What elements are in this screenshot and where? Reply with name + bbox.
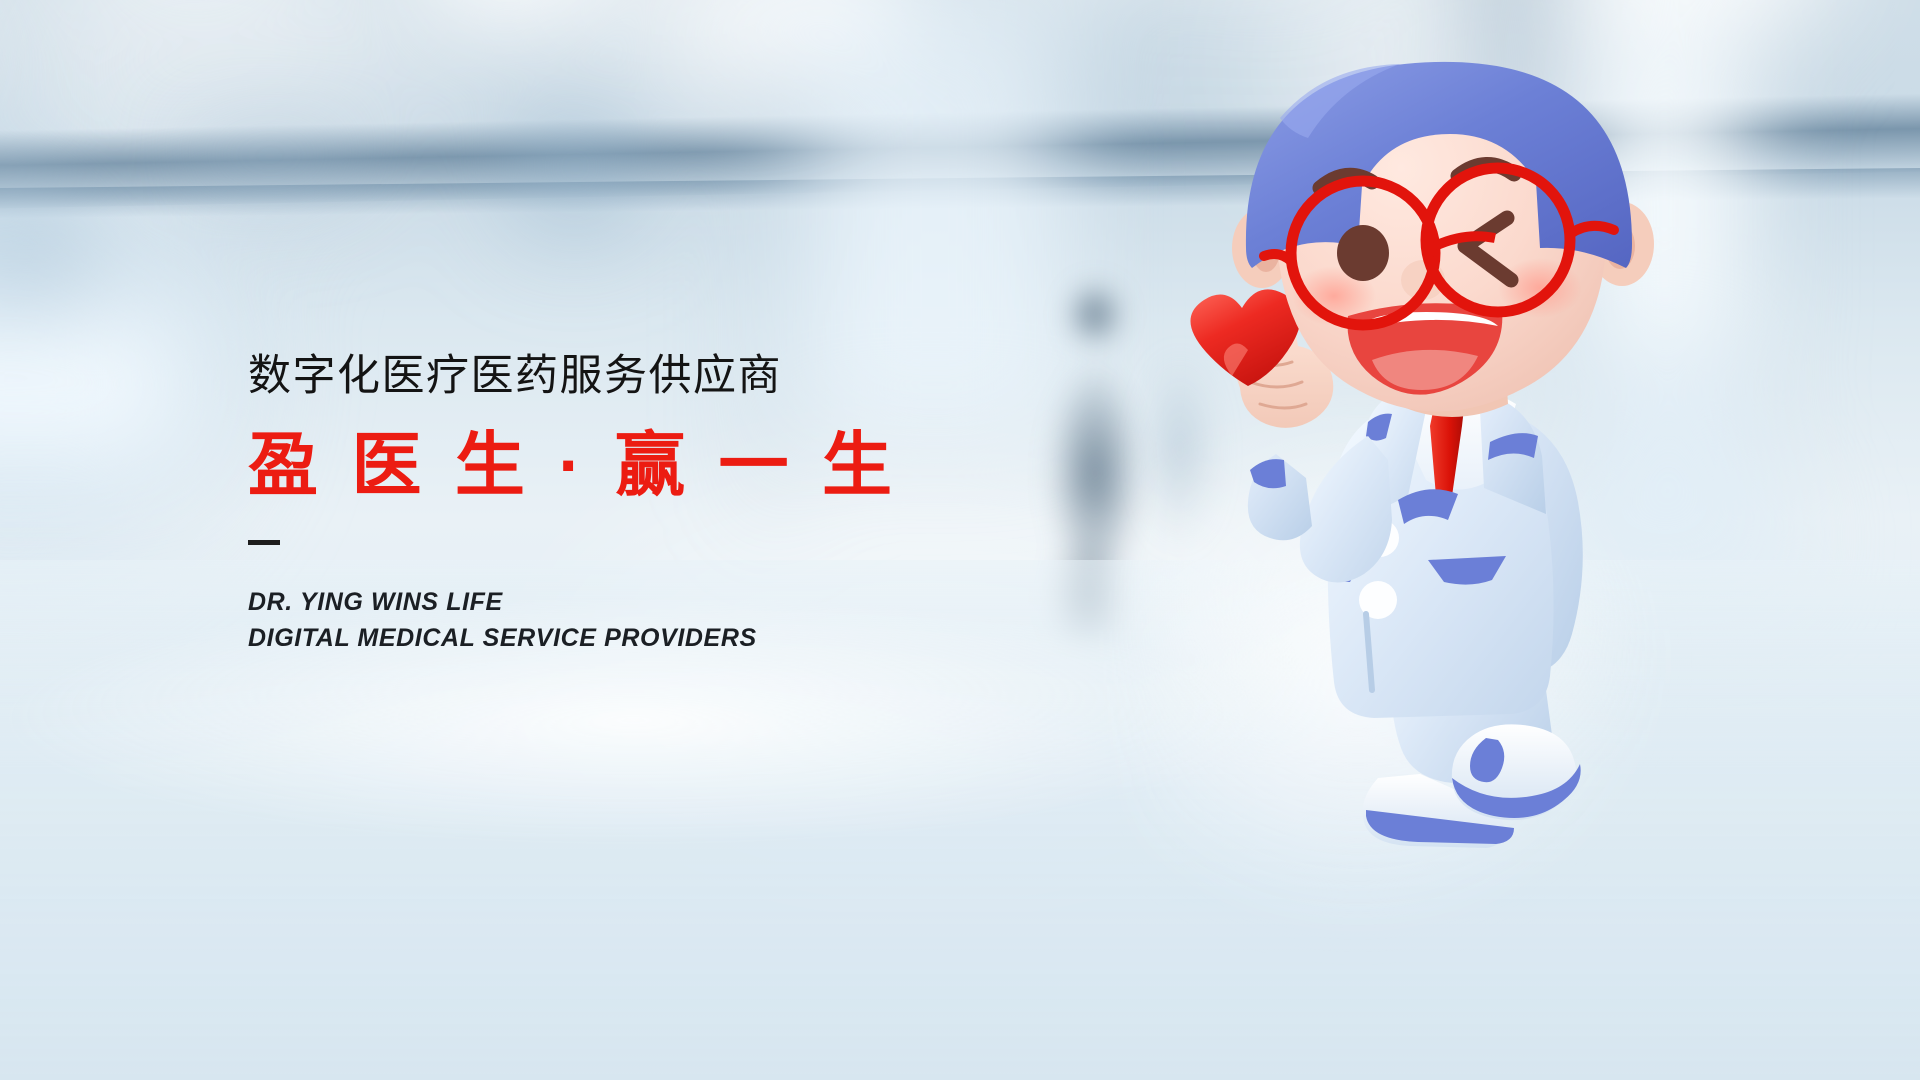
- eye-open-left: [1337, 225, 1389, 281]
- doctor-character-illustration: [1180, 48, 1680, 858]
- hero-divider-rule: [248, 540, 280, 545]
- hero-banner: 数字化医疗医药服务供应商 盈 医 生 · 赢 一 生 DR. YING WINS…: [0, 0, 1920, 1080]
- hero-title: 盈 医 生 · 赢 一 生: [248, 424, 1028, 507]
- hero-subtitle: DR. YING WINS LIFE DIGITAL MEDICAL SERVI…: [248, 585, 1028, 656]
- hero-copy: 数字化医疗医药服务供应商 盈 医 生 · 赢 一 生 DR. YING WINS…: [248, 352, 1028, 656]
- hero-subtitle-line-2: DIGITAL MEDICAL SERVICE PROVIDERS: [248, 621, 1028, 657]
- hero-headline: 数字化医疗医药服务供应商: [248, 352, 1028, 402]
- coat-sleeve-left: [1300, 436, 1392, 583]
- shoes: [1363, 724, 1581, 848]
- hero-subtitle-line-1: DR. YING WINS LIFE: [248, 585, 1028, 621]
